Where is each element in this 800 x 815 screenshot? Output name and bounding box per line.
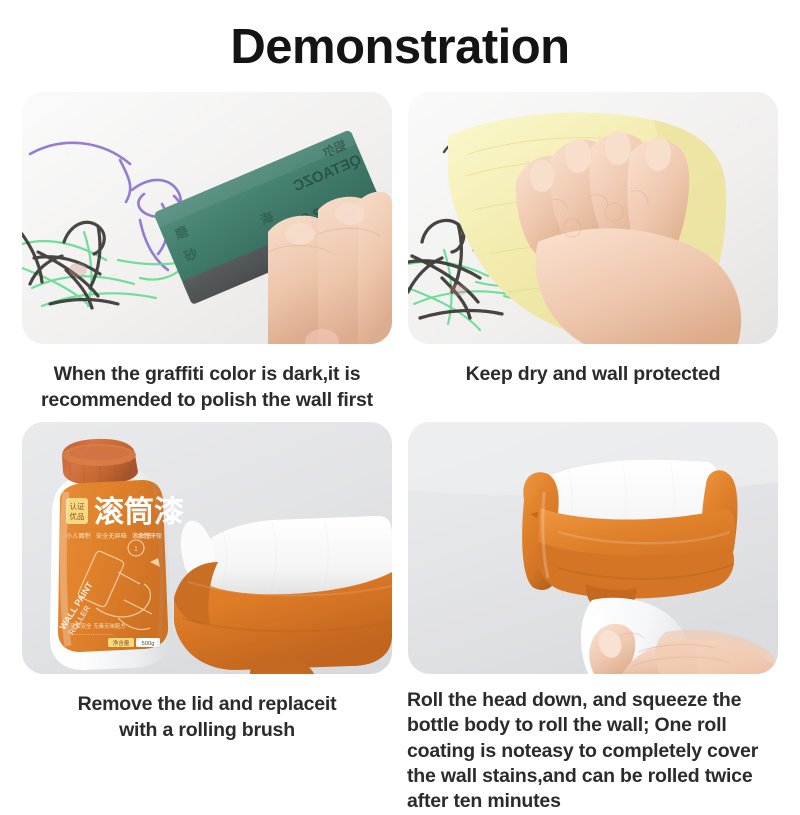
- caption-line: Keep dry and wall protected: [407, 362, 779, 388]
- caption-line: bottle body to roll the wall; One roll: [407, 713, 779, 738]
- step-3-caption: Remove the lid and replaceit with a roll…: [21, 692, 393, 744]
- steps-row-bottom: 认证 优品 滚筒漆 小人面积 安全无异味 滚涂快干 水性环保: [0, 422, 800, 815]
- step-2-photo: [408, 92, 778, 344]
- step-3-photo: 认证 优品 滚筒漆 小人面积 安全无异味 滚涂快干 水性环保: [22, 422, 392, 674]
- caption-line: Remove the lid and replaceit: [21, 692, 393, 718]
- step-1-photo: QETAOZC SH2 S 铝尔 磨 砂 海: [22, 92, 392, 344]
- caption-line: with a rolling brush: [21, 718, 393, 744]
- caption-line: the wall stains,and can be rolled twice: [407, 764, 779, 789]
- step-2-caption: Keep dry and wall protected: [407, 362, 779, 388]
- caption-line: When the graffiti color is dark,it is: [21, 362, 393, 388]
- caption-line: recommended to polish the wall first: [21, 388, 393, 414]
- page-title: Demonstration: [0, 0, 800, 86]
- demonstration-page: Demonstration: [0, 0, 800, 800]
- steps-grid: QETAOZC SH2 S 铝尔 磨 砂 海: [0, 92, 800, 815]
- caption-line: coating is noteasy to completely cover: [407, 739, 779, 764]
- caption-line: after ten minutes: [407, 789, 779, 814]
- step-card-sanding: QETAOZC SH2 S 铝尔 磨 砂 海: [22, 92, 392, 414]
- step-4-photo: [408, 422, 778, 674]
- step-card-replace-lid: 认证 优品 滚筒漆 小人面积 安全无异味 滚涂快干 水性环保: [22, 422, 392, 815]
- step-4-caption: Roll the head down, and squeeze the bott…: [407, 688, 779, 815]
- step-card-roll-wall: Roll the head down, and squeeze the bott…: [408, 422, 778, 815]
- steps-row-top: QETAOZC SH2 S 铝尔 磨 砂 海: [0, 92, 800, 414]
- step-card-wipe: Keep dry and wall protected: [408, 92, 778, 414]
- caption-line: Roll the head down, and squeeze the: [407, 688, 779, 713]
- step-1-caption: When the graffiti color is dark,it is re…: [21, 362, 393, 414]
